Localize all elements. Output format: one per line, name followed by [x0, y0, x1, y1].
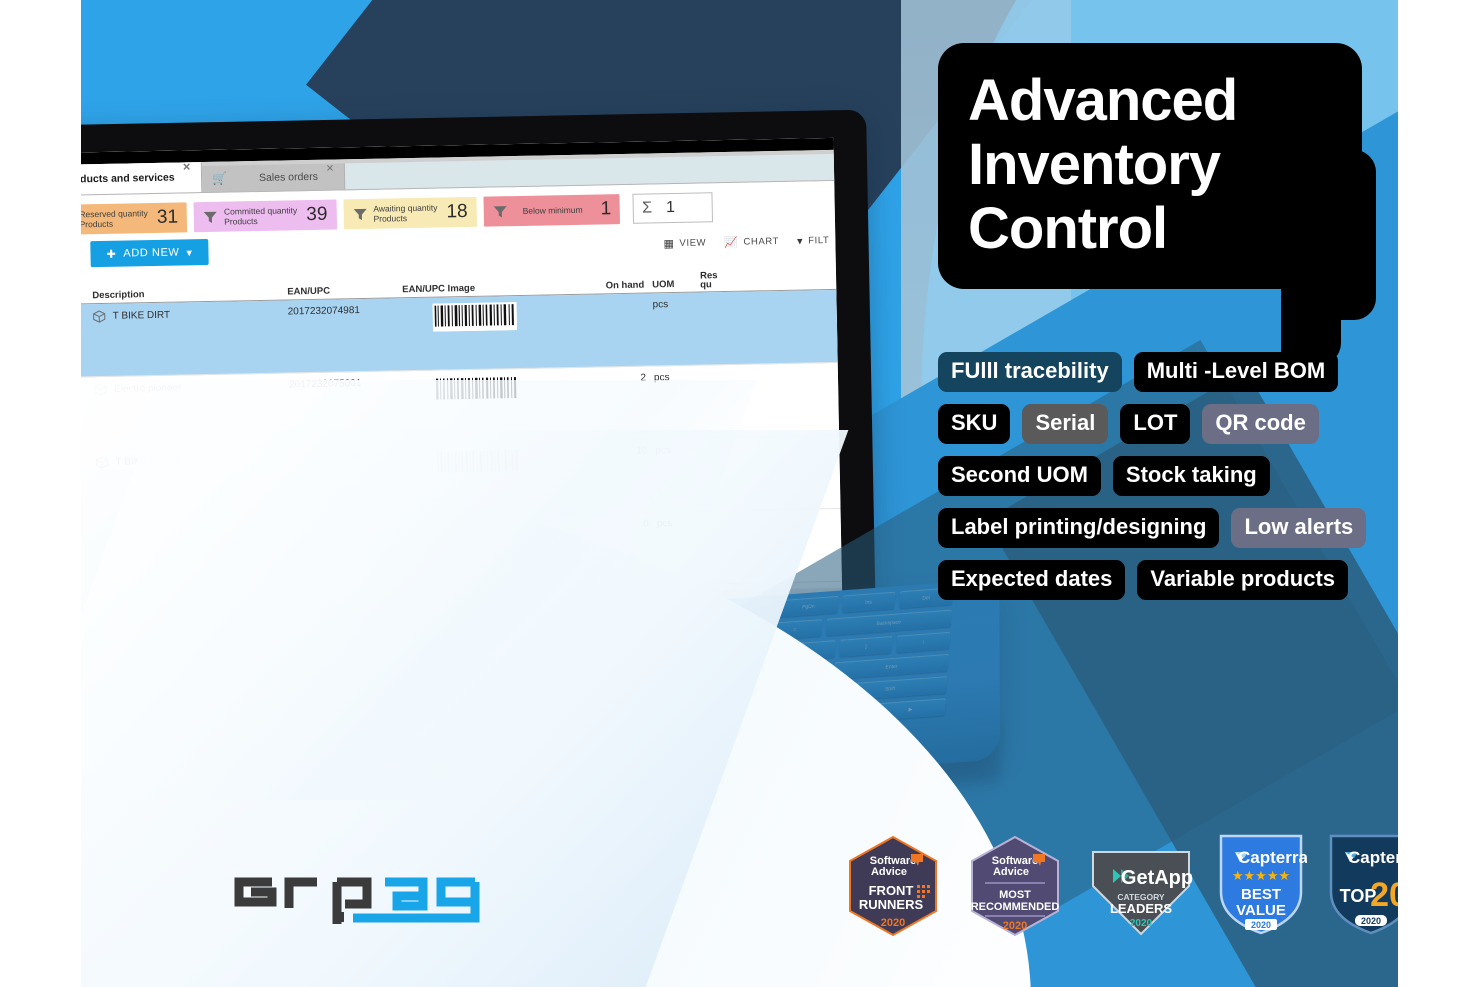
svg-text:2020: 2020 [1361, 916, 1381, 926]
tab-sales-orders[interactable]: 🛒 Sales orders ✕ [202, 163, 346, 192]
svg-text:Capterra: Capterra [1348, 848, 1398, 867]
award-badge-row: Software Advice FRONT RUNNERS 2020 Softw… [841, 830, 1398, 938]
tag-low-alerts[interactable]: Low alerts [1231, 508, 1366, 548]
svg-text:Advice: Advice [871, 866, 907, 878]
column-product-image: Product image [81, 290, 92, 303]
view-button[interactable]: ▦ VIEW [663, 236, 706, 250]
description-text: T BIKE DIRT [113, 310, 171, 322]
svg-text:2020: 2020 [1003, 920, 1027, 932]
svg-text:BEST: BEST [1241, 886, 1281, 903]
kpi-label: Awaiting quantity Products [373, 203, 437, 224]
svg-text:RECOMMENDED: RECOMMENDED [971, 901, 1060, 913]
tab-label: Products and services [81, 172, 175, 186]
svg-text:MOST: MOST [999, 889, 1031, 901]
svg-text:LEADERS: LEADERS [1110, 901, 1172, 916]
kpi-below-minimum[interactable]: Below minimum 1 [483, 194, 620, 227]
badge-software-advice-front-runners: Software Advice FRONT RUNNERS 2020 [841, 834, 945, 938]
tag-multi-level-bom[interactable]: Multi -Level BOM [1134, 352, 1338, 392]
plus-icon: ✚ [106, 247, 116, 260]
barcode-icon [434, 375, 519, 405]
kpi-label: Below minimum [514, 205, 592, 216]
svg-text:★★★★★: ★★★★★ [1232, 868, 1290, 883]
headline-line-2: Inventory [968, 133, 1332, 197]
artwork-canvas: Page Products and services ✕ 🛒 Sales ord… [81, 0, 1398, 987]
badge-capterra-best-value: Capterra ★★★★★ BEST VALUE 2020 [1215, 830, 1307, 938]
cart-icon: 🛒 [212, 172, 227, 186]
column-description: Description [92, 286, 287, 301]
tag-lot[interactable]: LOT [1120, 404, 1190, 444]
kpi-reserved-quantity[interactable]: Reserved quantity Products 31 [81, 202, 187, 235]
view-label: VIEW [679, 237, 706, 249]
svg-text:2020: 2020 [1130, 918, 1153, 929]
column-ean-upc: EAN/UPC [287, 284, 402, 297]
on-hand-value: 2 [584, 367, 646, 385]
column-reserved-quantity: Res qu [690, 270, 760, 289]
close-icon[interactable]: ✕ [182, 162, 191, 173]
product-description: Electro pioneer [94, 373, 289, 396]
svg-text:Capterra: Capterra [1238, 848, 1307, 867]
feature-tag-row: SKU Serial LOT QR code [938, 404, 1398, 444]
kpi-label: Reserved quantity Products [81, 208, 148, 229]
badge-getapp-category-leaders: GetApp CATEGORY LEADERS 2020 [1085, 834, 1197, 938]
svg-text:2020: 2020 [881, 917, 905, 929]
svg-text:20: 20 [1370, 876, 1398, 914]
summation-field[interactable]: Σ 1 [633, 192, 714, 224]
column-uom: UOM [644, 279, 690, 291]
barcode-image [402, 295, 583, 335]
kpi-value: 39 [306, 204, 328, 226]
ean-value: 2017232074981 [287, 298, 402, 317]
svg-text:GetApp: GetApp [1121, 867, 1193, 889]
on-hand-value [582, 294, 644, 301]
column-ean-upc-image: EAN/UPC Image [402, 281, 582, 295]
kpi-value: 18 [446, 201, 468, 223]
package-icon [95, 456, 108, 469]
uom-value: pcs [644, 293, 690, 311]
svg-text:FRONT: FRONT [869, 883, 914, 898]
add-new-label: ADD NEW [123, 247, 179, 260]
tag-label-printing-designing[interactable]: Label printing/designing [938, 508, 1219, 548]
feature-tag-row: FUlll tracebility Multi -Level BOM [938, 352, 1398, 392]
summation-value: 1 [666, 199, 675, 217]
headline-line-3: Control [968, 197, 1332, 261]
tag-second-uom[interactable]: Second UOM [938, 456, 1101, 496]
logo-dot [333, 912, 344, 922]
chevron-down-icon: ▾ [186, 246, 192, 259]
erpag-logo-mark [227, 852, 517, 924]
package-icon [94, 383, 107, 396]
kpi-value: 1 [600, 198, 611, 220]
uom-value: pcs [646, 366, 692, 384]
kpi-label: Committed quantity Products [224, 205, 298, 226]
tag-qr-code[interactable]: QR code [1202, 404, 1318, 444]
filter-icon: ▾ [797, 234, 803, 247]
tab-label: Sales orders [233, 171, 318, 185]
product-description: T BIKE DIRT [92, 300, 287, 323]
tag-serial[interactable]: Serial [1022, 404, 1108, 444]
feature-tag-list: FUlll tracebility Multi -Level BOM SKU S… [938, 352, 1398, 612]
feature-tag-row: Label printing/designing Low alerts [938, 508, 1398, 548]
filter-button[interactable]: ▾ FILT [797, 234, 830, 248]
filter-label: FILT [808, 235, 829, 246]
kpi-value: 31 [157, 207, 179, 229]
headline-card: Advanced Inventory Control [938, 43, 1362, 289]
barcode-icon [433, 302, 518, 332]
reserved-value [692, 365, 752, 372]
grid-toolbar: ▦ VIEW 📈 CHART ▾ FILT [663, 233, 835, 249]
ean-value: 2017232075001 [289, 371, 404, 390]
sigma-icon: Σ [642, 199, 652, 217]
filter-icon [493, 205, 508, 218]
filter-icon [352, 207, 367, 220]
tag-stock-taking[interactable]: Stock taking [1113, 456, 1270, 496]
svg-text:VALUE: VALUE [1236, 902, 1286, 919]
kpi-awaiting-quantity[interactable]: Awaiting quantity Products 18 [343, 197, 477, 230]
promo-poster: Page Products and services ✕ 🛒 Sales ord… [0, 0, 1480, 987]
tab-products-and-services[interactable]: Products and services ✕ [81, 162, 202, 195]
tag-expected-dates[interactable]: Expected dates [938, 560, 1125, 600]
package-icon [93, 310, 106, 323]
feature-tag-row: Expected dates Variable products [938, 560, 1398, 600]
barcode-image [404, 368, 585, 408]
tag-variable-products[interactable]: Variable products [1137, 560, 1348, 600]
column-on-hand: On hand [582, 280, 644, 292]
reserved-value [690, 292, 750, 299]
tag-full-tracebility[interactable]: FUlll tracebility [938, 352, 1122, 392]
product-thumbnail [81, 377, 95, 442]
erpag-logo [227, 852, 517, 924]
add-new-button[interactable]: ✚ ADD NEW ▾ [90, 239, 209, 267]
close-icon[interactable]: ✕ [326, 164, 335, 175]
feature-tag-row: Second UOM Stock taking [938, 456, 1398, 496]
chart-label: CHART [743, 235, 779, 247]
chart-icon: 📈 [724, 235, 739, 248]
svg-text:Advice: Advice [993, 866, 1029, 878]
tag-sku[interactable]: SKU [938, 404, 1010, 444]
filter-icon [203, 210, 218, 223]
svg-text:2020: 2020 [1251, 920, 1271, 930]
kpi-committed-quantity[interactable]: Committed quantity Products 39 [194, 199, 337, 232]
svg-text:RUNNERS: RUNNERS [859, 897, 924, 912]
chart-button[interactable]: 📈 CHART [724, 234, 779, 248]
headline-line-1: Advanced [968, 69, 1332, 133]
badge-capterra-top-20: Capterra TOP 20 2020 [1325, 830, 1398, 938]
badge-software-advice-most-recommended: Software Advice MOST RECOMMENDED 2020 [963, 834, 1067, 938]
grid-icon: ▦ [663, 237, 674, 250]
description-text: Electro pioneer [114, 382, 181, 394]
